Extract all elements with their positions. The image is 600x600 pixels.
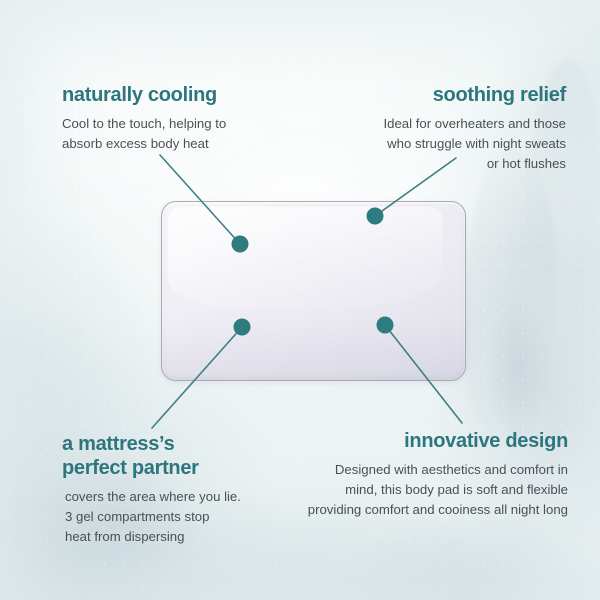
- pad-edge-shadow: [162, 319, 465, 380]
- callout-body-naturally-cooling: Cool to the touch, helping to absorb exc…: [62, 114, 302, 154]
- pad-surface-sheen: [168, 207, 443, 310]
- callout-body-line: who struggle with night sweats: [387, 136, 566, 151]
- callout-perfect-partner: a mattress’s perfect partner covers the …: [62, 432, 294, 547]
- callout-body-line: mind, this body pad is soft and flexible: [345, 482, 568, 497]
- callout-heading-perfect-partner: a mattress’s perfect partner: [62, 432, 294, 481]
- callout-heading-naturally-cooling: naturally cooling: [62, 84, 302, 108]
- cooling-gel-body-pad: [161, 201, 466, 381]
- background-streak-right: [464, 150, 556, 450]
- callout-heading-innovative-design: innovative design: [290, 430, 568, 454]
- callout-heading-line: perfect partner: [62, 457, 199, 479]
- callout-body-line: or hot flushes: [487, 156, 566, 171]
- callout-naturally-cooling: naturally cooling Cool to the touch, hel…: [62, 84, 302, 154]
- callout-body-line: heat from dispersing: [65, 529, 184, 544]
- callout-soothing-relief: soothing relief Ideal for overheaters an…: [330, 84, 566, 174]
- callout-body-soothing-relief: Ideal for overheaters and those who stru…: [330, 114, 566, 174]
- callout-body-innovative-design: Designed with aesthetics and comfort in …: [290, 460, 568, 520]
- callout-body-line: providing comfort and cooiness all night…: [308, 502, 568, 517]
- callout-body-line: Designed with aesthetics and comfort in: [335, 462, 568, 477]
- callout-body-line: 3 gel compartments stop: [65, 509, 209, 524]
- callout-heading-line: a mattress’s: [62, 433, 174, 455]
- callout-body-line: Ideal for overheaters and those: [383, 116, 566, 131]
- callout-heading-soothing-relief: soothing relief: [330, 84, 566, 108]
- callout-body-perfect-partner: covers the area where you lie. 3 gel com…: [62, 487, 294, 547]
- callout-body-line: covers the area where you lie.: [65, 489, 241, 504]
- callout-body-line: absorb excess body heat: [62, 136, 209, 151]
- infographic-canvas: naturally cooling Cool to the touch, hel…: [0, 0, 600, 600]
- callout-body-line: Cool to the touch, helping to: [62, 116, 226, 131]
- callout-innovative-design: innovative design Designed with aestheti…: [290, 430, 568, 520]
